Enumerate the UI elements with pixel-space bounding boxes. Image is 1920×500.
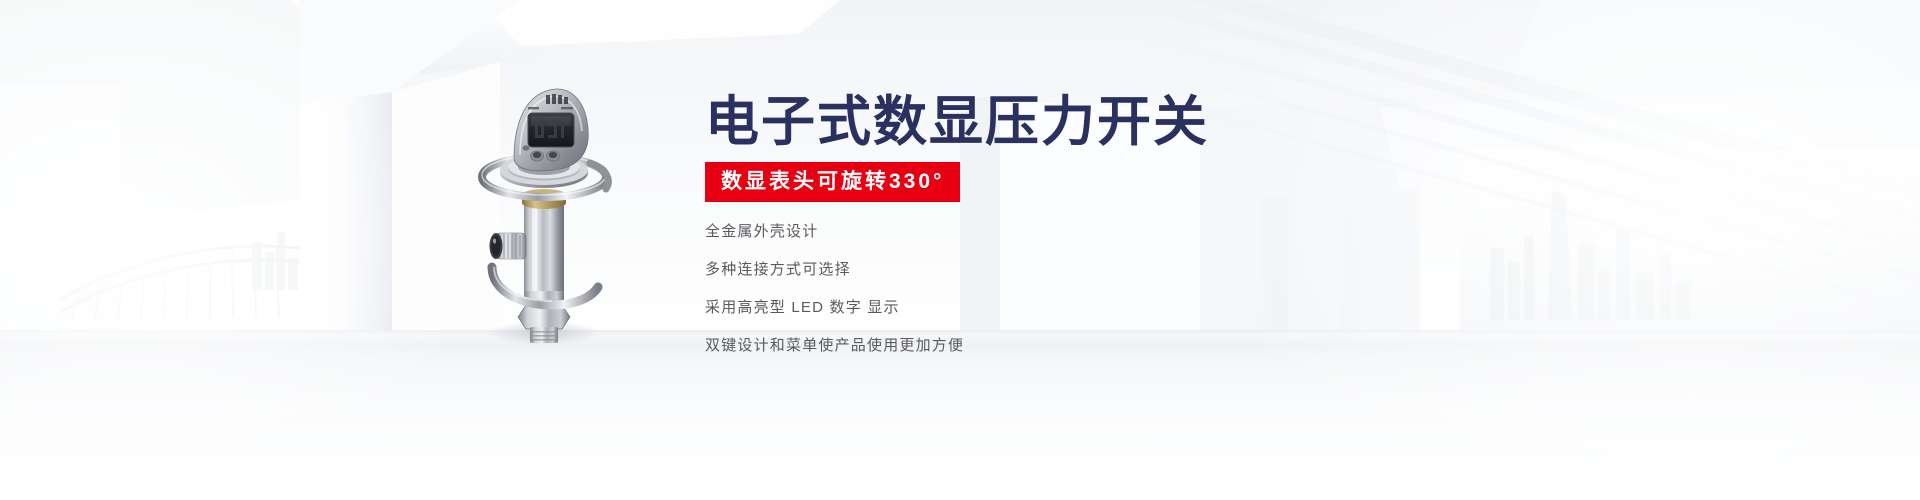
list-item: 全金属外壳设计 xyxy=(705,224,1405,239)
page-title: 电子式数显压力开关 xyxy=(705,92,1405,152)
product-hero-banner: 电子式数显压力开关 数显表头可旋转330° 全金属外壳设计 多种连接方式可选择 … xyxy=(0,0,1920,500)
status-led xyxy=(523,145,530,150)
list-item: 采用高亮型 LED 数字 显示 xyxy=(705,300,1405,315)
feature-list: 全金属外壳设计 多种连接方式可选择 采用高亮型 LED 数字 显示 双键设计和菜… xyxy=(705,224,1405,353)
banner-copy: 电子式数显压力开关 数显表头可旋转330° 全金属外壳设计 多种连接方式可选择 … xyxy=(705,92,1405,353)
display-head xyxy=(514,89,588,171)
m12-connector xyxy=(490,233,527,259)
list-item: 多种连接方式可选择 xyxy=(705,262,1405,277)
status-badge: 数显表头可旋转330° xyxy=(705,162,960,202)
floor-plane xyxy=(0,330,1920,500)
pressure-switch-illustration xyxy=(440,55,650,345)
product-image xyxy=(440,55,650,345)
list-item: 双键设计和菜单使产品使用更加方便 xyxy=(705,338,1405,353)
